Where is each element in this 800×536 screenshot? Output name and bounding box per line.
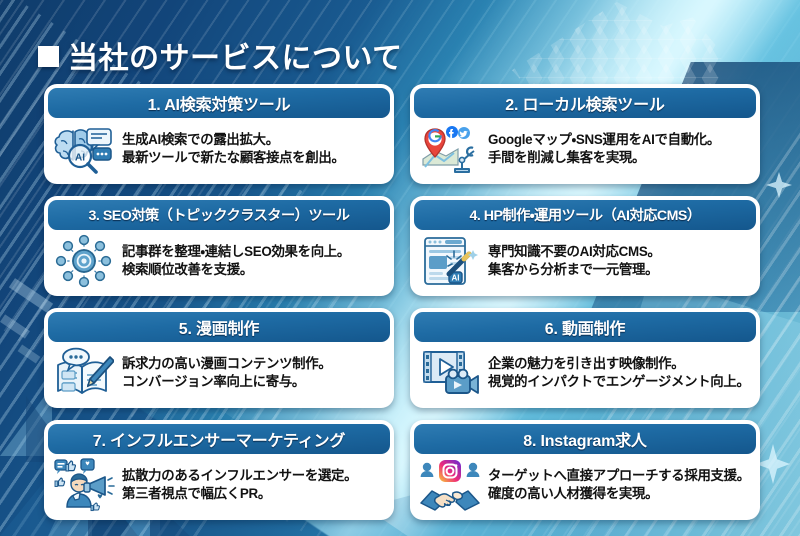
sparkle-diamond-lower xyxy=(756,444,790,484)
card-2-desc-line2: 手間を削減し集客を実現。 xyxy=(488,149,750,168)
card-8-title: 8. Instagram求人 xyxy=(523,427,646,451)
card-3-desc-line1: 記事群を整理・連結しSEO効果を向上。 xyxy=(122,244,350,259)
card-7-description: 拡散力のあるインフルエンサーを選定。 第三者視点で幅広くPR。 xyxy=(122,467,384,504)
brain-ai-search-icon: AI xyxy=(52,120,116,178)
card-8-desc-line2: 確度の高い人材獲得を実現。 xyxy=(488,485,750,504)
card-7-body: 拡散力のあるインフルエンサーを選定。 第三者視点で幅広くPR。 xyxy=(48,454,390,516)
service-card-1[interactable]: 1. AI検索対策ツール xyxy=(44,84,394,184)
card-6-desc-line1: 企業の魅力を引き出す映像制作。 xyxy=(488,356,684,371)
card-5-title: 5. 漫画制作 xyxy=(179,315,259,339)
service-card-5[interactable]: 5. 漫画制作 xyxy=(44,308,394,408)
card-5-body: 訴求力の高い漫画コンテンツ制作。 コンバージョン率向上に寄与。 xyxy=(48,342,390,404)
service-card-8[interactable]: 8. Instagram求人 xyxy=(410,420,760,520)
card-3-desc-line2: 検索順位改善を支援。 xyxy=(122,261,384,280)
service-card-4[interactable]: 4. HP制作・運用ツール（AI対応CMS） xyxy=(410,196,760,296)
page-title-text: 当社のサービスについて xyxy=(68,33,403,77)
card-1-title: 1. AI検索対策ツール xyxy=(148,91,291,115)
service-card-2[interactable]: 2. ローカル検索ツール xyxy=(410,84,760,184)
left-accent-bar-3 xyxy=(18,345,41,364)
map-pin-social-robot-icon xyxy=(418,120,482,178)
film-play-video-camera-icon xyxy=(418,344,482,402)
service-card-7[interactable]: 7. インフルエンサーマーケティング xyxy=(44,420,394,520)
service-card-3[interactable]: 3. SEO対策（トピッククラスター）ツール xyxy=(44,196,394,296)
left-accent-bar-2 xyxy=(0,314,30,338)
title-square-bullet-icon xyxy=(38,46,59,67)
card-7-header: 7. インフルエンサーマーケティング xyxy=(48,424,390,454)
page-title: 当社のサービスについて xyxy=(38,33,403,77)
card-1-description: 生成AI検索での露出拡大。 最新ツールで新たな顧客接点を創出。 xyxy=(122,131,384,168)
card-6-title: 6. 動画制作 xyxy=(545,315,625,339)
card-1-desc-line1: 生成AI検索での露出拡大。 xyxy=(122,132,279,147)
card-8-desc-line1: ターゲットへ直接アプローチする採用支援。 xyxy=(488,468,750,483)
card-2-description: Googleマップ・SNS運用をAIで自動化。 手間を削減し集客を実現。 xyxy=(488,131,750,168)
sparkle-diamond-upper xyxy=(766,172,792,198)
card-4-body: AI 専門知識不要のAI対応CMS。 集客から分析まで一元管理。 xyxy=(414,230,756,292)
card-3-body: 記事群を整理・連結しSEO効果を向上。 検索順位改善を支援。 xyxy=(48,230,390,292)
card-4-desc-line2: 集客から分析まで一元管理。 xyxy=(488,261,750,280)
card-1-desc-line2: 最新ツールで新たな顧客接点を創出。 xyxy=(122,149,384,168)
card-2-desc-line1: Googleマップ・SNS運用をAIで自動化。 xyxy=(488,132,720,147)
card-1-header: 1. AI検索対策ツール xyxy=(48,88,390,118)
card-8-header: 8. Instagram求人 xyxy=(414,424,756,454)
card-2-body: Googleマップ・SNS運用をAIで自動化。 手間を削減し集客を実現。 xyxy=(414,118,756,180)
card-5-desc-line1: 訴求力の高い漫画コンテンツ制作。 xyxy=(122,356,331,371)
card-7-desc-line2: 第三者視点で幅広くPR。 xyxy=(122,485,384,504)
card-6-description: 企業の魅力を引き出す映像制作。 視覚的インパクトでエンゲージメント向上。 xyxy=(488,355,750,392)
webpage-magic-wand-ai-icon: AI xyxy=(418,232,482,290)
card-6-desc-line2: 視覚的インパクトでエンゲージメント向上。 xyxy=(488,373,750,392)
service-card-grid: 1. AI検索対策ツール xyxy=(44,84,760,520)
card-5-header: 5. 漫画制作 xyxy=(48,312,390,342)
card-3-title: 3. SEO対策（トピッククラスター）ツール xyxy=(89,205,350,225)
card-7-desc-line1: 拡散力のあるインフルエンサーを選定。 xyxy=(122,468,357,483)
card-7-title: 7. インフルエンサーマーケティング xyxy=(93,427,345,451)
card-3-header: 3. SEO対策（トピッククラスター）ツール xyxy=(48,200,390,230)
open-book-pencil-speech-icon xyxy=(52,344,116,402)
card-4-desc-line1: 専門知識不要のAI対応CMS。 xyxy=(488,244,661,259)
card-2-header: 2. ローカル検索ツール xyxy=(414,88,756,118)
svg-text:AI: AI xyxy=(75,153,85,164)
service-card-6[interactable]: 6. 動画制作 xyxy=(410,308,760,408)
card-6-header: 6. 動画制作 xyxy=(414,312,756,342)
card-8-body: ターゲットへ直接アプローチする採用支援。 確度の高い人材獲得を実現。 xyxy=(414,454,756,516)
card-2-title: 2. ローカル検索ツール xyxy=(505,91,664,115)
topic-cluster-network-icon xyxy=(52,232,116,290)
card-8-description: ターゲットへ直接アプローチする採用支援。 確度の高い人材獲得を実現。 xyxy=(488,467,750,504)
card-5-desc-line2: コンバージョン率向上に寄与。 xyxy=(122,373,384,392)
influencer-megaphone-icon xyxy=(52,456,116,514)
card-4-title: 4. HP制作・運用ツール（AI対応CMS） xyxy=(469,205,700,225)
card-4-description: 専門知識不要のAI対応CMS。 集客から分析まで一元管理。 xyxy=(488,243,750,280)
card-5-description: 訴求力の高い漫画コンテンツ制作。 コンバージョン率向上に寄与。 xyxy=(122,355,384,392)
card-3-description: 記事群を整理・連結しSEO効果を向上。 検索順位改善を支援。 xyxy=(122,243,384,280)
slide-canvas: 当社のサービスについて 1. AI検索対策ツール xyxy=(0,0,800,536)
card-6-body: 企業の魅力を引き出す映像制作。 視覚的インパクトでエンゲージメント向上。 xyxy=(414,342,756,404)
svg-text:AI: AI xyxy=(452,274,460,283)
card-1-body: AI 生成AI検索での露出拡大。 最新ツールで新たな顧客接点を創出。 xyxy=(48,118,390,180)
handshake-instagram-recruit-icon xyxy=(418,456,482,514)
card-4-header: 4. HP制作・運用ツール（AI対応CMS） xyxy=(414,200,756,230)
